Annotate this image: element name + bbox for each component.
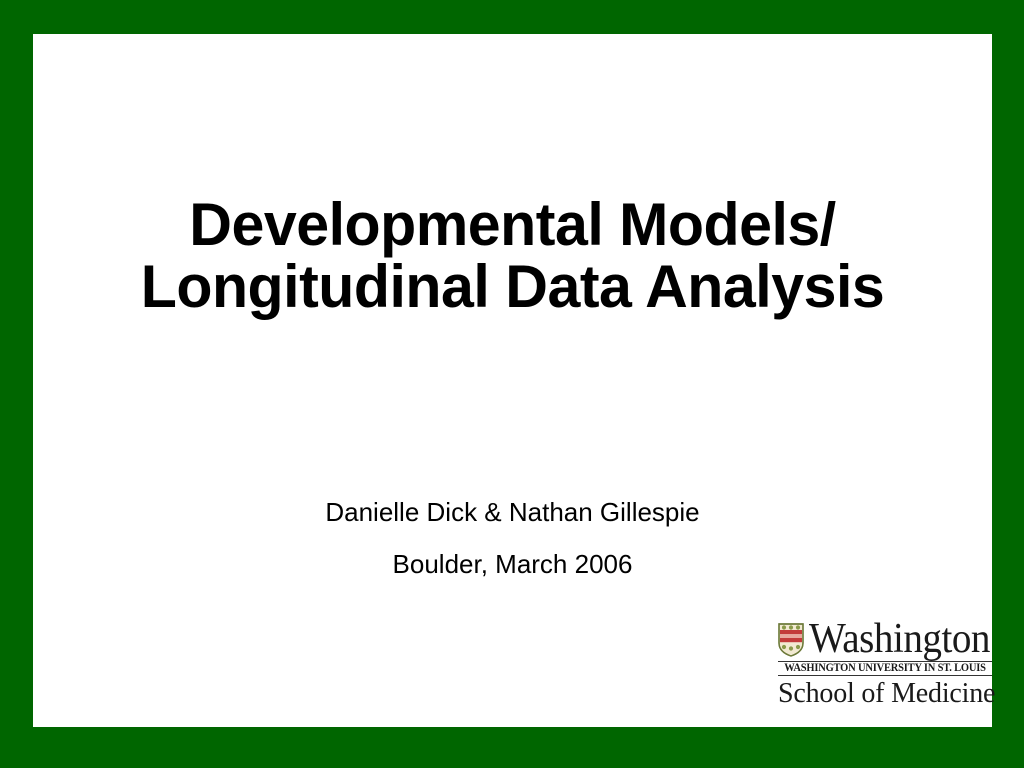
subtitle-venue: Boulder, March 2006 [33,538,992,590]
subtitle-authors: Danielle Dick & Nathan Gillespie [33,486,992,538]
logo-school-name: School of Medicine [778,678,992,710]
logo-wordmark: Washington [809,618,990,660]
title-line-2: Longitudinal Data Analysis [40,256,985,318]
presentation-slide: Developmental Models/ Longitudinal Data … [0,0,1024,768]
logo-top-row: Washington [778,612,992,660]
logo-tagline: WASHINGTON UNIVERSITY IN ST. LOUIS [778,661,992,675]
washington-university-logo: Washington WASHINGTON UNIVERSITY IN ST. … [778,612,992,712]
subtitle: Danielle Dick & Nathan Gillespie Boulder… [33,486,992,590]
shield-crest-icon [778,623,804,657]
page-title: Developmental Models/ Longitudinal Data … [33,194,992,318]
title-line-1: Developmental Models/ [40,194,985,256]
slide-canvas: Developmental Models/ Longitudinal Data … [33,34,992,727]
